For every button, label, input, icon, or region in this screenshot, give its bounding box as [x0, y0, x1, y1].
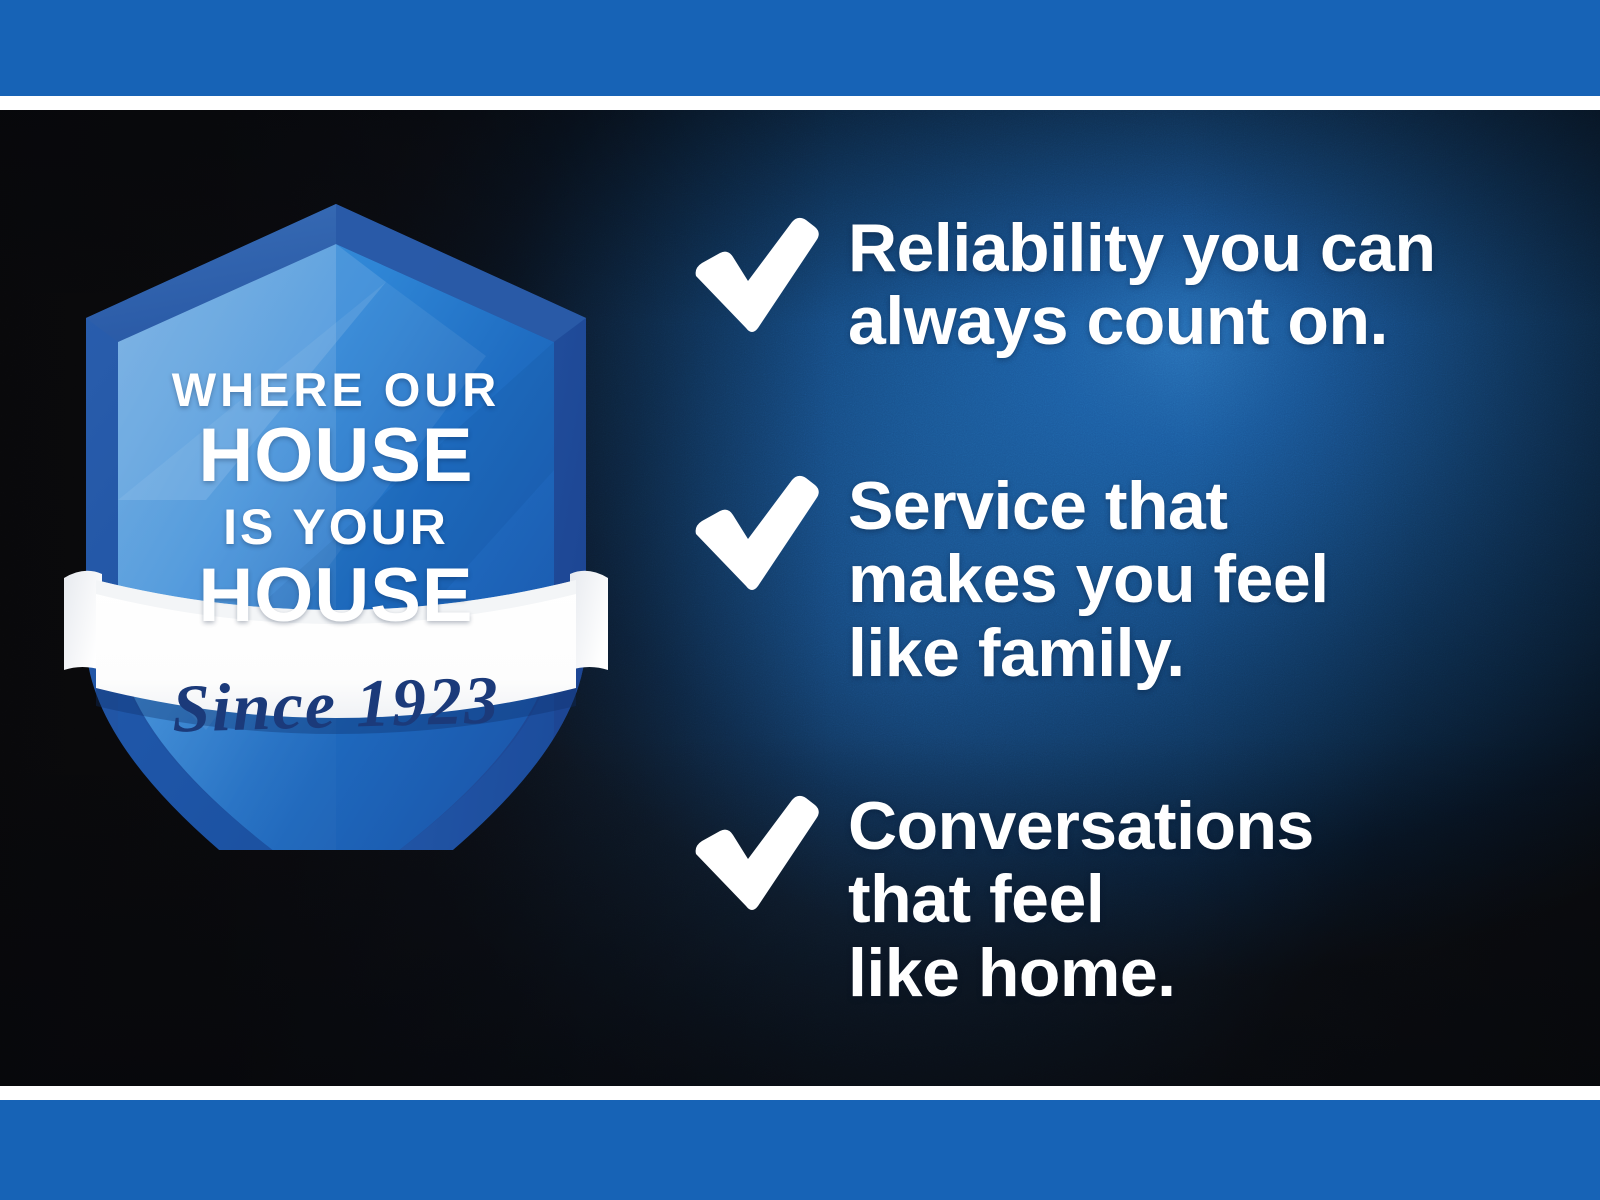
top-white-rule: [0, 96, 1600, 110]
benefits-list: Reliability you can always count on. Ser…: [672, 110, 1482, 1086]
top-accent-bar: [0, 0, 1600, 96]
list-item-label: Conversations that feel like home.: [848, 790, 1478, 1010]
bottom-white-rule: [0, 1086, 1600, 1100]
check-icon: [680, 216, 820, 336]
check-icon: [680, 474, 820, 594]
bottom-accent-bar: [0, 1100, 1600, 1200]
list-item-label: Service that makes you feel like family.: [848, 470, 1478, 690]
check-icon: [680, 794, 820, 914]
shield-logo: WHERE OUR HOUSE IS YOUR HOUSE Since 1923: [56, 170, 616, 850]
list-item-label: Reliability you can always count on.: [848, 212, 1478, 359]
shield-graphic: [56, 170, 616, 850]
promo-card: WHERE OUR HOUSE IS YOUR HOUSE Since 1923…: [0, 0, 1600, 1200]
